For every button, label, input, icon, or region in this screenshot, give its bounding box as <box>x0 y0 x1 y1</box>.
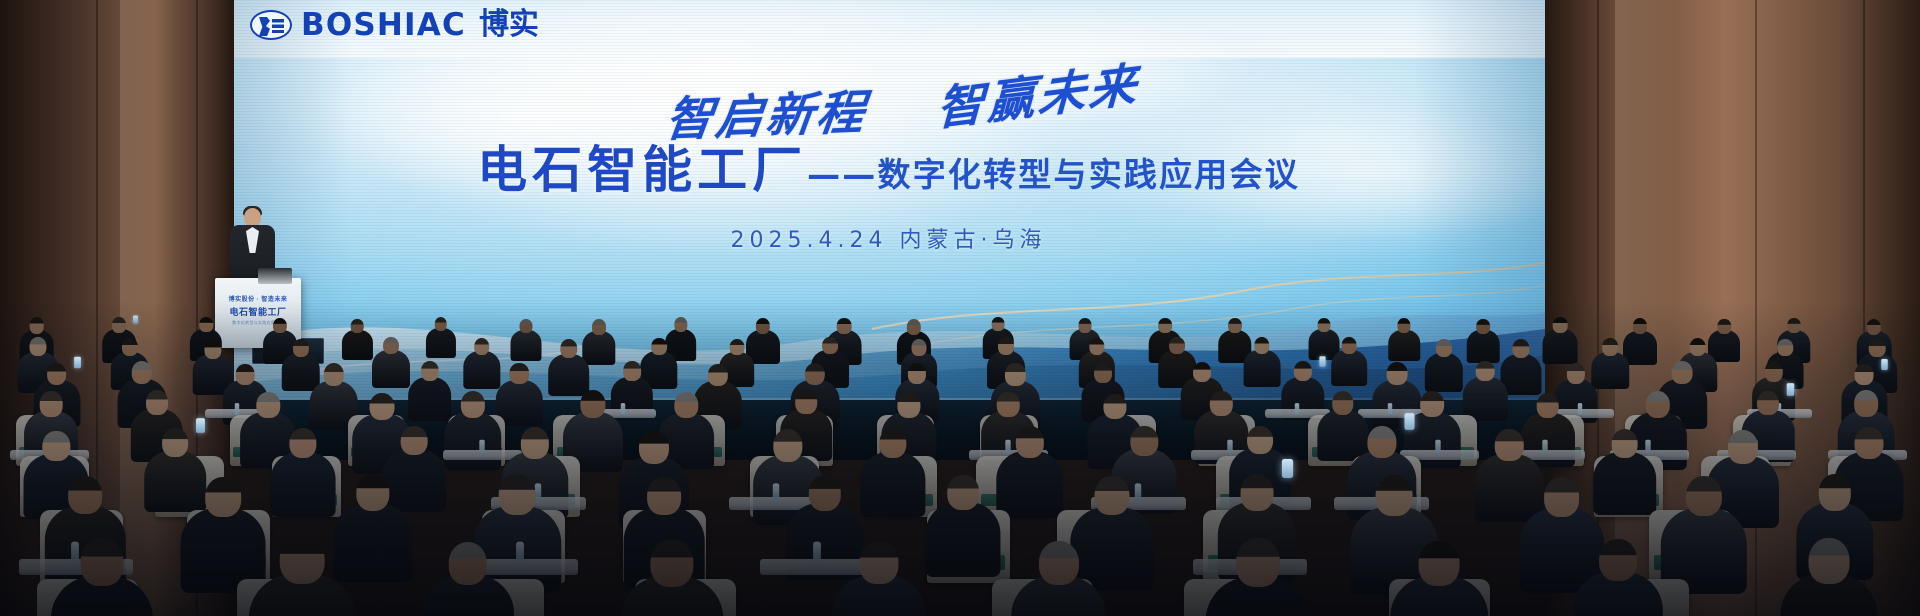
person-head <box>708 364 728 387</box>
person-head <box>162 428 188 457</box>
audience-person <box>511 319 542 365</box>
person-head <box>1419 541 1460 587</box>
water-bottle <box>516 541 524 562</box>
person-head <box>510 363 530 385</box>
calligraphy-line-1: 智启新程 <box>663 85 871 148</box>
water-bottle <box>1388 403 1392 415</box>
person-head <box>1103 394 1126 420</box>
audience-person <box>1780 538 1877 616</box>
water-bottle <box>1436 440 1441 454</box>
audience-person <box>463 338 500 393</box>
audience-phone <box>1282 459 1293 478</box>
person-head <box>521 427 549 459</box>
person-torso <box>463 351 500 388</box>
person-head <box>420 361 438 382</box>
person-torso <box>1543 329 1578 364</box>
person-head <box>1819 474 1851 510</box>
person-head <box>199 317 213 332</box>
person-head <box>729 339 744 356</box>
person-head <box>859 541 898 585</box>
person-head <box>908 363 926 383</box>
person-head <box>1599 539 1637 581</box>
audience-person <box>1244 337 1281 391</box>
person-head <box>29 337 46 356</box>
audience-person <box>1390 541 1488 616</box>
person-head <box>947 475 979 510</box>
person-head <box>370 393 395 421</box>
water-bottle <box>479 440 484 454</box>
person-head <box>879 428 906 459</box>
person-head <box>592 319 606 335</box>
person-torso <box>342 330 372 360</box>
person-head <box>1633 318 1647 334</box>
person-head <box>1476 319 1490 334</box>
person-torso <box>860 452 925 517</box>
person-head <box>1787 318 1801 334</box>
person-head <box>1602 338 1618 356</box>
person-head <box>674 317 687 332</box>
person-head <box>1855 427 1884 459</box>
person-head <box>997 392 1020 417</box>
person-head <box>1544 477 1580 517</box>
audience-person <box>832 541 925 616</box>
audience-person <box>51 538 153 616</box>
person-head <box>1095 476 1130 515</box>
person-head <box>1646 391 1670 418</box>
person-head <box>435 317 448 331</box>
audience-phone <box>1881 359 1888 370</box>
person-head <box>122 338 138 356</box>
slide-dash: —— <box>807 158 877 196</box>
audience-phone <box>74 357 81 368</box>
person-head <box>1210 391 1232 416</box>
audience-person <box>996 426 1063 525</box>
person-head <box>897 392 920 418</box>
person-head <box>1367 426 1396 459</box>
person-head <box>907 319 921 335</box>
water-bottle <box>813 541 821 562</box>
person-head <box>461 391 485 418</box>
person-head <box>1079 318 1092 333</box>
person-torso <box>444 412 502 470</box>
water-bottle <box>1295 403 1299 415</box>
audience-person <box>422 542 514 616</box>
person-head <box>474 338 490 356</box>
person-head <box>1170 337 1186 355</box>
audience-phone <box>133 315 138 323</box>
person-head <box>1867 319 1882 335</box>
person-head <box>1536 393 1559 418</box>
person-head <box>998 337 1014 355</box>
person-head <box>68 476 102 514</box>
person-head <box>43 431 70 461</box>
slide-sub-title: 数字化转型与实践应用会议 <box>878 158 1300 196</box>
person-head <box>1436 339 1452 357</box>
person-torso <box>996 451 1063 518</box>
person-head <box>1094 363 1112 383</box>
person-head <box>805 363 825 386</box>
audience-person <box>342 319 372 363</box>
audience-phone <box>1319 356 1325 367</box>
slide-text-block: 智启新程 智赢未来 电石智能工厂 —— 数字化转型与实践应用会议 2025.4.… <box>232 88 1545 254</box>
person-torso <box>1389 330 1421 362</box>
audience-phone <box>196 418 205 433</box>
person-head <box>146 390 168 415</box>
person-head <box>323 363 343 386</box>
person-head <box>273 318 287 334</box>
person-head <box>1332 391 1354 415</box>
person-head <box>1611 429 1638 459</box>
person-head <box>773 429 802 462</box>
person-head <box>1317 318 1330 333</box>
person-head <box>401 426 428 456</box>
person-torso <box>372 350 410 388</box>
person-head <box>674 392 697 418</box>
person-head <box>1553 317 1568 333</box>
person-head <box>1294 361 1312 381</box>
water-bottle <box>1578 403 1582 415</box>
boshiac-logo: BOSHIAC 博实 <box>250 6 539 44</box>
person-head <box>1342 337 1357 354</box>
person-head <box>756 318 770 334</box>
person-head <box>1236 538 1280 587</box>
audience-person <box>1011 541 1107 616</box>
person-head <box>1512 339 1529 358</box>
logo-text-cn: 博实 <box>479 10 539 40</box>
person-head <box>1240 474 1273 511</box>
audience-person <box>1467 319 1500 367</box>
audience-person <box>1389 318 1421 364</box>
person-head <box>795 390 817 414</box>
person-torso <box>271 452 336 517</box>
person-head <box>1476 361 1495 382</box>
person-head <box>1728 430 1758 464</box>
person-head <box>280 535 325 585</box>
boshiac-emblem-icon <box>250 10 292 40</box>
person-head <box>1016 426 1044 458</box>
person-head <box>1686 476 1722 516</box>
audience-person <box>1543 317 1578 368</box>
audience-phone <box>1787 383 1795 396</box>
person-head <box>383 337 399 355</box>
person-head <box>1808 538 1849 584</box>
person-head <box>1386 362 1407 385</box>
person-head <box>1757 391 1779 416</box>
person-head <box>112 317 126 333</box>
person-head <box>351 319 364 333</box>
person-head <box>257 392 280 418</box>
person-head <box>1158 318 1172 333</box>
water-bottle <box>234 403 238 415</box>
person-head <box>837 318 852 334</box>
slide-main-title: 电石智能工厂 <box>477 144 807 196</box>
person-head <box>1672 361 1693 384</box>
person-head <box>912 339 927 356</box>
person-head <box>1228 318 1242 334</box>
person-head <box>1193 362 1211 382</box>
person-head <box>647 477 681 515</box>
person-head <box>356 474 389 511</box>
person-head <box>290 428 317 458</box>
person-head <box>581 390 606 418</box>
person-head <box>650 539 693 587</box>
person-head <box>29 317 44 333</box>
audience-person <box>426 317 456 361</box>
audience-person <box>249 535 355 616</box>
person-head <box>992 317 1005 331</box>
slide-calligraphy: 智启新程 智赢未来 <box>663 79 1140 144</box>
person-head <box>47 363 67 385</box>
person-torso <box>1331 350 1367 386</box>
person-head <box>1131 426 1158 456</box>
person-head <box>204 340 221 359</box>
person-head <box>449 542 488 585</box>
person-head <box>1375 475 1412 516</box>
person-head <box>1089 338 1104 355</box>
person-head <box>80 538 123 586</box>
person-head <box>638 431 668 465</box>
person-head <box>1855 364 1874 385</box>
person-head <box>1869 339 1886 358</box>
person-head <box>1764 361 1782 382</box>
person-head <box>293 339 309 357</box>
person-head <box>205 477 241 517</box>
audience-person <box>444 391 502 476</box>
person-head <box>520 319 533 334</box>
person-head <box>1495 429 1524 461</box>
person-torso <box>926 502 1001 577</box>
conference-photo: 智启新程 智赢未来 电石智能工厂 —— 数字化转型与实践应用会议 2025.4.… <box>0 0 1920 616</box>
person-head <box>236 364 255 385</box>
water-bottle <box>773 484 779 501</box>
audience-person <box>1573 539 1663 616</box>
person-torso <box>1467 330 1500 363</box>
person-head <box>1777 339 1793 356</box>
podium-laptop <box>258 268 292 284</box>
audience-person <box>620 539 723 616</box>
person-head <box>1567 363 1585 383</box>
person-head <box>40 391 63 416</box>
calligraphy-gap <box>885 126 915 127</box>
person-head <box>1005 363 1025 386</box>
audience-person <box>1425 339 1463 395</box>
person-head <box>1398 318 1411 333</box>
audience-person <box>860 428 925 524</box>
person-torso <box>1425 353 1463 391</box>
audience-person <box>372 337 410 393</box>
person-head <box>1689 338 1706 357</box>
person-head <box>822 337 838 355</box>
person-torso <box>426 328 456 358</box>
person-head <box>499 474 536 515</box>
audience-person <box>926 475 1001 585</box>
person-torso <box>511 330 542 361</box>
audience-person <box>271 428 336 523</box>
audience-person <box>1331 337 1367 389</box>
audience-phone <box>1405 413 1415 430</box>
person-head <box>560 339 577 359</box>
logo-text-en: BOSHIAC <box>301 10 466 41</box>
person-head <box>1254 337 1269 354</box>
person-head <box>132 361 153 384</box>
audience-area <box>0 300 1920 616</box>
person-head <box>1247 426 1273 455</box>
person-torso <box>1243 350 1280 387</box>
person-head <box>1718 319 1731 334</box>
person-head <box>651 338 667 356</box>
person-head <box>1039 541 1079 586</box>
person-head <box>809 475 841 511</box>
person-head <box>1854 390 1878 417</box>
person-head <box>1420 391 1444 417</box>
slide-date-line: 2025.4.24 内蒙古·乌海 <box>232 222 1545 254</box>
person-head <box>623 361 641 381</box>
audience-person <box>1205 538 1310 616</box>
slide-title-row: 电石智能工厂 —— 数字化转型与实践应用会议 <box>232 144 1545 196</box>
